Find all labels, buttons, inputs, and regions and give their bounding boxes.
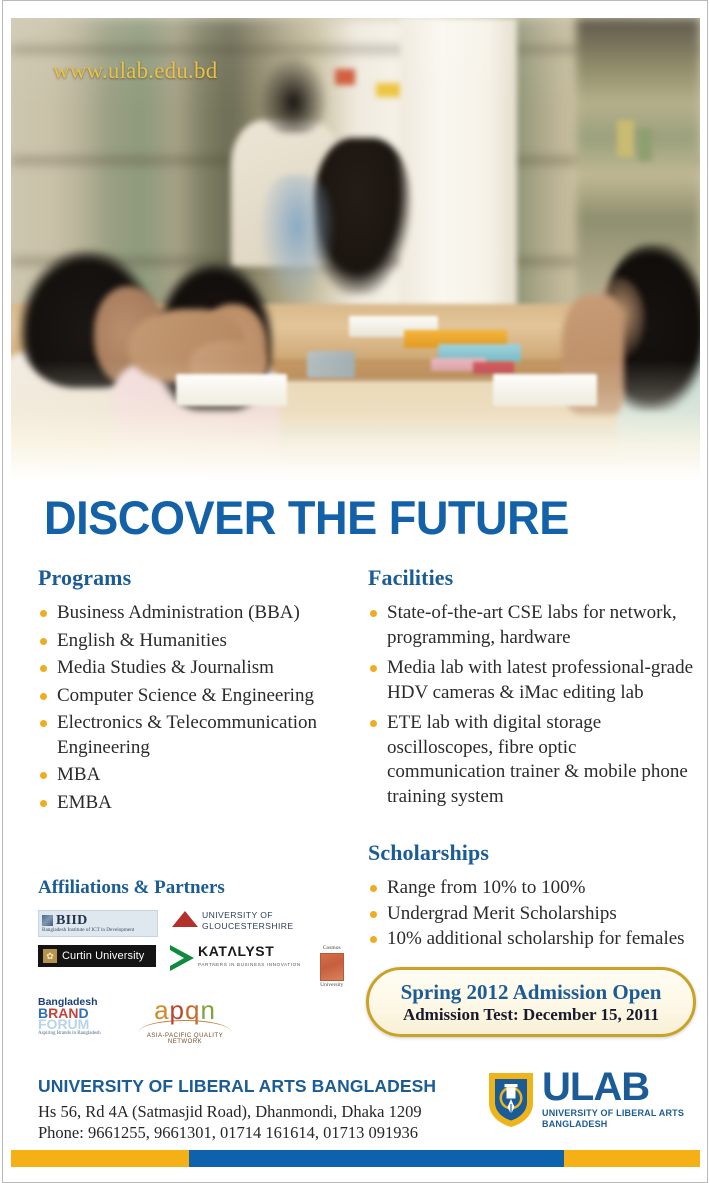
advertisement-poster: www.ulab.edu.bd DISCOVER THE FUTURE Prog… (0, 0, 710, 1183)
affiliations-heading: Affiliations & Partners (38, 877, 368, 899)
programs-list: Business Administration (BBA) English & … (38, 601, 358, 815)
admission-badge[interactable]: Spring 2012 Admission Open Admission Tes… (366, 967, 696, 1037)
apqn-logo[interactable]: apqn ASIA-PACIFIC QUALITY NETWORK (130, 997, 240, 1045)
list-item: Media Studies & Journalism (38, 656, 358, 681)
katalyst-logo-tagline: PARTNERS IN BUSINESS INNOVATION (198, 962, 301, 967)
frame-border-top (2, 0, 708, 1)
gloucestershire-line2: GLOUCESTERSHIRE (202, 921, 293, 931)
ulab-logo[interactable]: ULAB UNIVERSITY OF LIBERAL ARTS BANGLADE… (487, 1068, 684, 1130)
list-item: EMBA (38, 791, 358, 816)
arrow-icon (170, 945, 196, 971)
programs-heading: Programs (38, 565, 358, 591)
biid-mark-icon (42, 915, 53, 926)
list-item: Range from 10% to 100% (368, 876, 698, 901)
list-item: ETE lab with digital storage oscilloscop… (368, 711, 698, 809)
katalyst-logo[interactable]: KATΛLYST PARTNERS IN BUSINESS INNOVATION (170, 945, 301, 971)
list-item: 10% additional scholarship for females (368, 927, 698, 952)
scholarships-block: Scholarships Range from 10% to 100% Unde… (368, 840, 698, 952)
bottom-color-bar (11, 1150, 700, 1167)
ulab-wordmark: ULAB (542, 1068, 684, 1106)
cosmos-emblem-icon (320, 953, 344, 981)
hero-photo-students-in-library: www.ulab.edu.bd (11, 18, 700, 480)
facilities-heading: Facilities (368, 565, 698, 591)
list-item: Business Administration (BBA) (38, 601, 358, 626)
affiliations-section: Affiliations & Partners BIID Bangladesh … (38, 877, 368, 1053)
bbf-line3: FORUM (38, 1019, 116, 1030)
gloucestershire-line1: UNIVERSITY OF (202, 910, 273, 920)
footer-phone[interactable]: Phone: 9661255, 9661301, 01714 161614, 0… (38, 1122, 478, 1143)
curtin-logo-title: Curtin University (62, 950, 144, 962)
apqn-tagline: ASIA-PACIFIC QUALITY NETWORK (130, 1033, 240, 1045)
website-url[interactable]: www.ulab.edu.bd (53, 58, 217, 84)
list-item: Undergrad Merit Scholarships (368, 902, 698, 927)
affiliation-logo-row-2: ✿ Curtin University KATΛLYST PARTNERS IN… (38, 945, 368, 989)
affiliation-logo-row-1: BIID Bangladesh Institute of ICT in Deve… (38, 910, 368, 937)
admission-test-date: Admission Test: December 15, 2011 (403, 1004, 659, 1025)
frame-border-right (707, 0, 708, 1183)
facilities-list: State-of-the-art CSE labs for network, p… (368, 601, 698, 809)
ulab-sub-line2: BANGLADESH (542, 1119, 684, 1130)
apqn-letter-q: q (185, 995, 200, 1025)
cosmos-logo-top: Cosmos (315, 945, 349, 952)
ulab-shield-icon (487, 1070, 535, 1128)
admission-badge-title: Spring 2012 Admission Open (401, 980, 662, 1004)
frame-border-left (2, 0, 3, 1183)
photo-bottom-fade (11, 360, 700, 480)
scholarships-list: Range from 10% to 100% Undergrad Merit S… (368, 876, 698, 952)
apqn-letter-p: p (170, 995, 185, 1025)
list-item: Media lab with latest professional-grade… (368, 656, 698, 705)
programs-section: Programs Business Administration (BBA) E… (38, 565, 358, 818)
footer-contact-block: UNIVERSITY OF LIBERAL ARTS BANGLADESH Hs… (38, 1076, 478, 1143)
library-scene-illustration (11, 18, 700, 480)
list-item: State-of-the-art CSE labs for network, p… (368, 601, 698, 650)
biid-logo-tagline: Bangladesh Institute of ICT in Developme… (42, 927, 154, 934)
curtin-emblem-icon: ✿ (43, 949, 57, 963)
biid-logo[interactable]: BIID Bangladesh Institute of ICT in Deve… (38, 910, 158, 937)
gloucestershire-logo[interactable]: UNIVERSITY OF GLOUCESTERSHIRE (172, 910, 293, 931)
bbf-tagline: Aspiring Brands in Bangladesh (38, 1030, 116, 1038)
apqn-letter-n: n (200, 995, 215, 1025)
cosmos-logo-bottom: University (315, 982, 349, 989)
facilities-scholarships-section: Facilities State-of-the-art CSE labs for… (368, 565, 698, 953)
bar-segment-gold-right (564, 1150, 700, 1167)
list-item: Computer Science & Engineering (38, 684, 358, 709)
bar-segment-gold-left (11, 1150, 189, 1167)
katalyst-logo-title: KATΛLYST (198, 943, 274, 959)
biid-logo-title: BIID (56, 914, 88, 927)
affiliation-logo-row-3: Bangladesh BRAND FORUM Aspiring Brands i… (38, 997, 368, 1045)
list-item: MBA (38, 763, 358, 788)
bar-segment-blue (189, 1150, 564, 1167)
page-title: DISCOVER THE FUTURE (44, 494, 569, 542)
bangladesh-brand-forum-logo[interactable]: Bangladesh BRAND FORUM Aspiring Brands i… (38, 997, 116, 1038)
scholarships-heading: Scholarships (368, 840, 698, 866)
footer-university-name: UNIVERSITY OF LIBERAL ARTS BANGLADESH (38, 1076, 478, 1097)
chevron-icon (172, 911, 198, 927)
list-item: English & Humanities (38, 629, 358, 654)
apqn-letter-a: a (154, 995, 169, 1025)
ulab-sub-line1: UNIVERSITY OF LIBERAL ARTS (542, 1108, 684, 1119)
footer-address: Hs 56, Rd 4A (Satmasjid Road), Dhanmondi… (38, 1101, 478, 1122)
cosmos-university-logo[interactable]: Cosmos University (315, 945, 349, 989)
curtin-university-logo[interactable]: ✿ Curtin University (38, 945, 156, 967)
list-item: Electronics & Telecommunication Engineer… (38, 711, 358, 760)
